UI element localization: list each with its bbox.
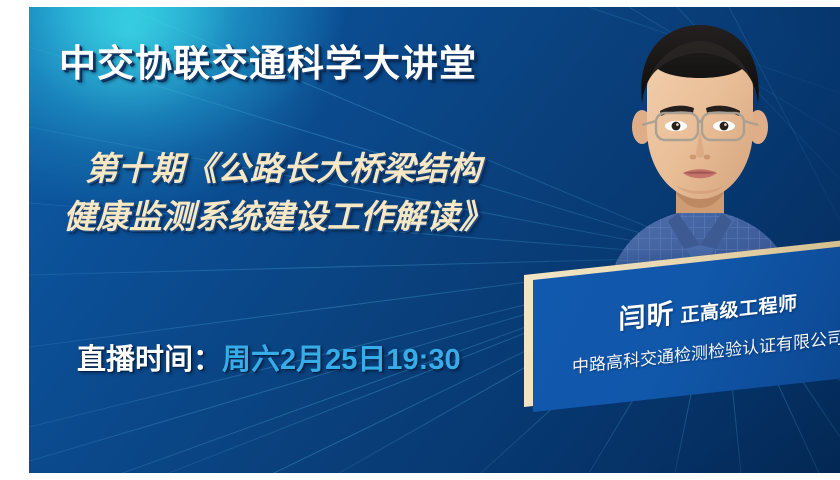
poster-banner: 中交协联交通科学大讲堂 第十期《公路长大桥梁结构 健康监测系统建设工作解读》 直… bbox=[29, 7, 840, 473]
subtitle-line-2: 健康监测系统建设工作解读》 bbox=[63, 193, 623, 241]
page-title: 中交协联交通科学大讲堂 bbox=[59, 33, 477, 87]
live-time: 直播时间：周六2月25日19:30 bbox=[77, 336, 461, 378]
subtitle-line-1: 第十期《公路长大桥梁结构 bbox=[63, 145, 623, 193]
poster-frame: 中交协联交通科学大讲堂 第十期《公路长大桥梁结构 健康监测系统建设工作解读》 直… bbox=[0, 0, 840, 480]
subtitle: 第十期《公路长大桥梁结构 健康监测系统建设工作解读》 bbox=[63, 145, 623, 241]
live-time-label: 直播时间： bbox=[77, 344, 222, 376]
speaker-info-panel: 闫昕正高级工程师 中路高科交通检测检验认证有限公司 bbox=[524, 275, 840, 407]
live-time-value: 周六2月25日19:30 bbox=[222, 344, 461, 376]
